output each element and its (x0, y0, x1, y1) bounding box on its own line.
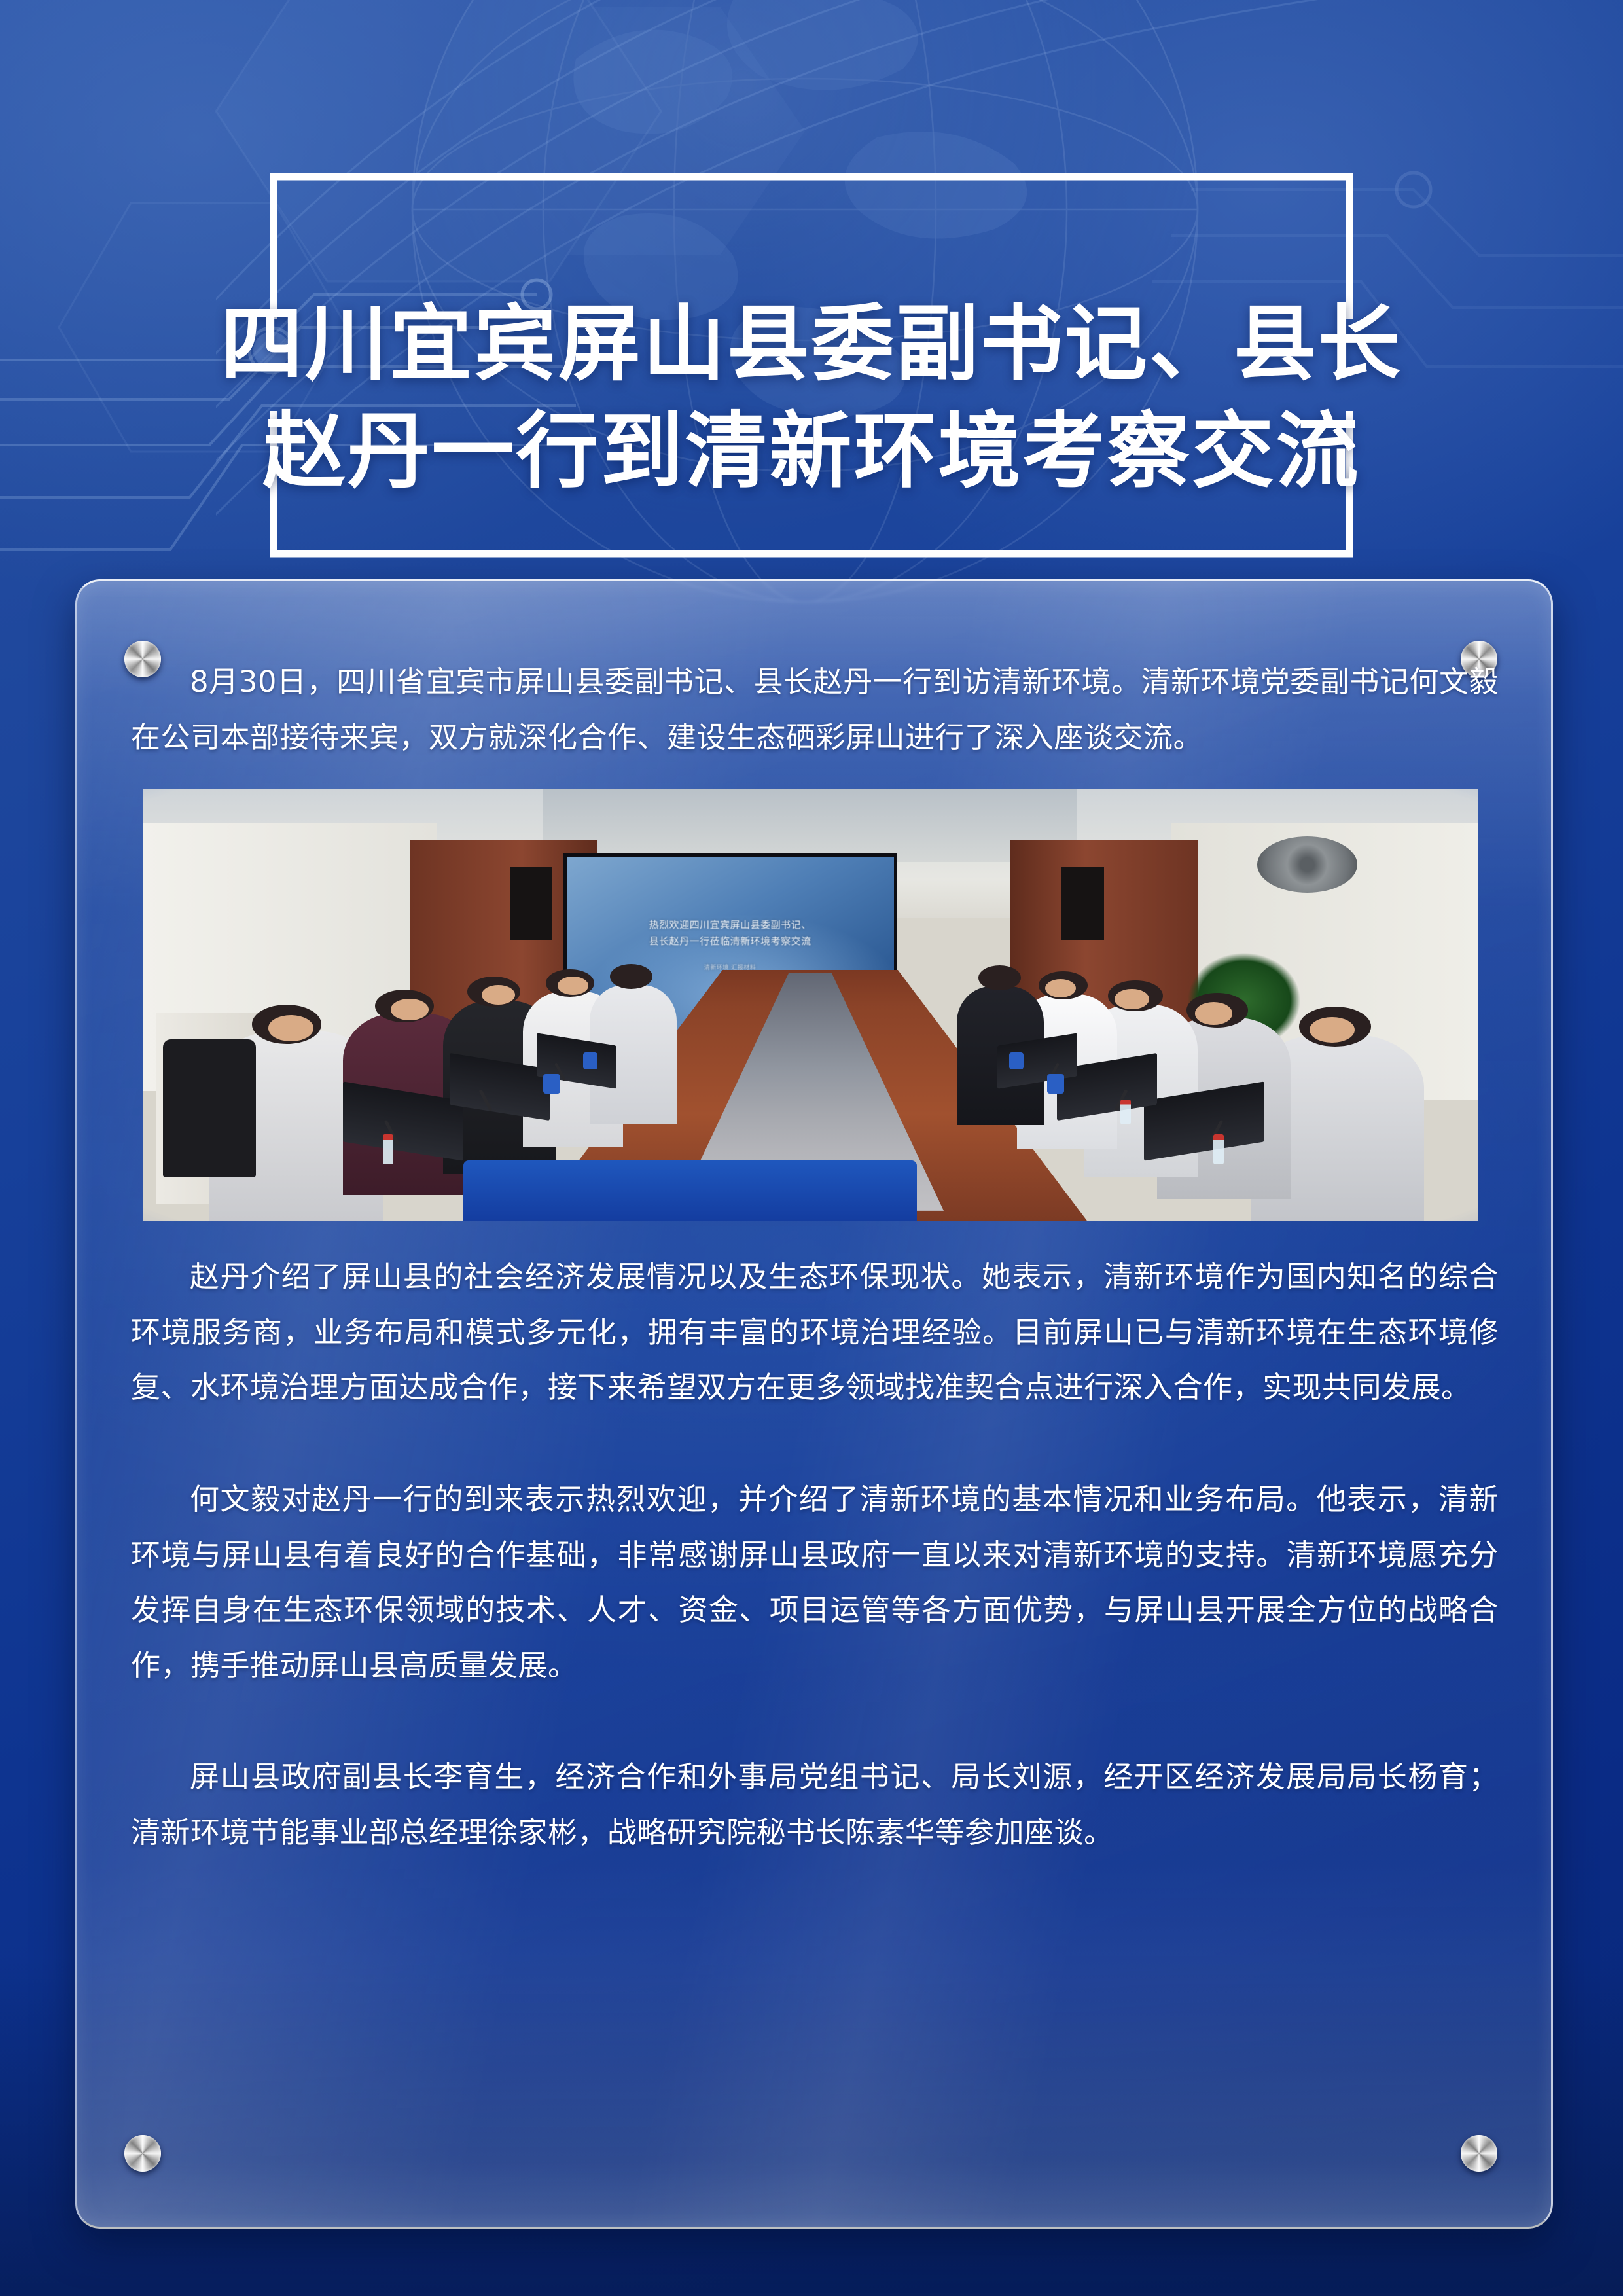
projector-text-line-1: 热烈欢迎四川宜宾屏山县委副书记、 (649, 917, 811, 934)
meeting-photo-image: 热烈欢迎四川宜宾屏山县委副书记、 县长赵丹一行莅临清新环境考察交流 清新环境 汇… (143, 789, 1478, 1221)
poster-root: 四川宜宾屏山县委副书记、县长 赵丹一行到清新环境考察交流 8月30日，四川省宜宾… (0, 0, 1623, 2296)
wall-fan-icon (1257, 836, 1357, 893)
title-line-1: 四川宜宾屏山县委副书记、县长 (0, 291, 1623, 398)
article-paragraph-3: 何文毅对赵丹一行的到来表示热烈欢迎，并介绍了清新环境的基本情况和业务布局。他表示… (131, 1472, 1499, 1693)
photo-blue-overlay (463, 1160, 918, 1221)
page-title: 四川宜宾屏山县委副书记、县长 赵丹一行到清新环境考察交流 (0, 291, 1623, 505)
article-body: 8月30日，四川省宜宾市屏山县委副书记、县长赵丹一行到访清新环境。清新环境党委副… (131, 655, 1499, 1861)
screw-bottom-left-icon (124, 2135, 161, 2172)
title-block: 四川宜宾屏山县委副书记、县长 赵丹一行到清新环境考察交流 (0, 149, 1623, 568)
projector-text-line-2: 县长赵丹一行莅临清新环境考察交流 (649, 933, 811, 950)
screw-bottom-right-icon (1461, 2135, 1497, 2172)
article-paragraph-1: 8月30日，四川省宜宾市屏山县委副书记、县长赵丹一行到访清新环境。清新环境党委副… (131, 655, 1499, 765)
meeting-photo: 热烈欢迎四川宜宾屏山县委副书记、 县长赵丹一行莅临清新环境考察交流 清新环境 汇… (143, 789, 1478, 1221)
title-line-2: 赵丹一行到清新环境考察交流 (0, 398, 1623, 505)
article-paragraph-2: 赵丹介绍了屏山县的社会经济发展情况以及生态环保现状。她表示，清新环境作为国内知名… (131, 1249, 1499, 1416)
article-paragraph-4: 屏山县政府副县长李育生，经济合作和外事局党组书记、局长刘源，经开区经济发展局局长… (131, 1749, 1499, 1860)
